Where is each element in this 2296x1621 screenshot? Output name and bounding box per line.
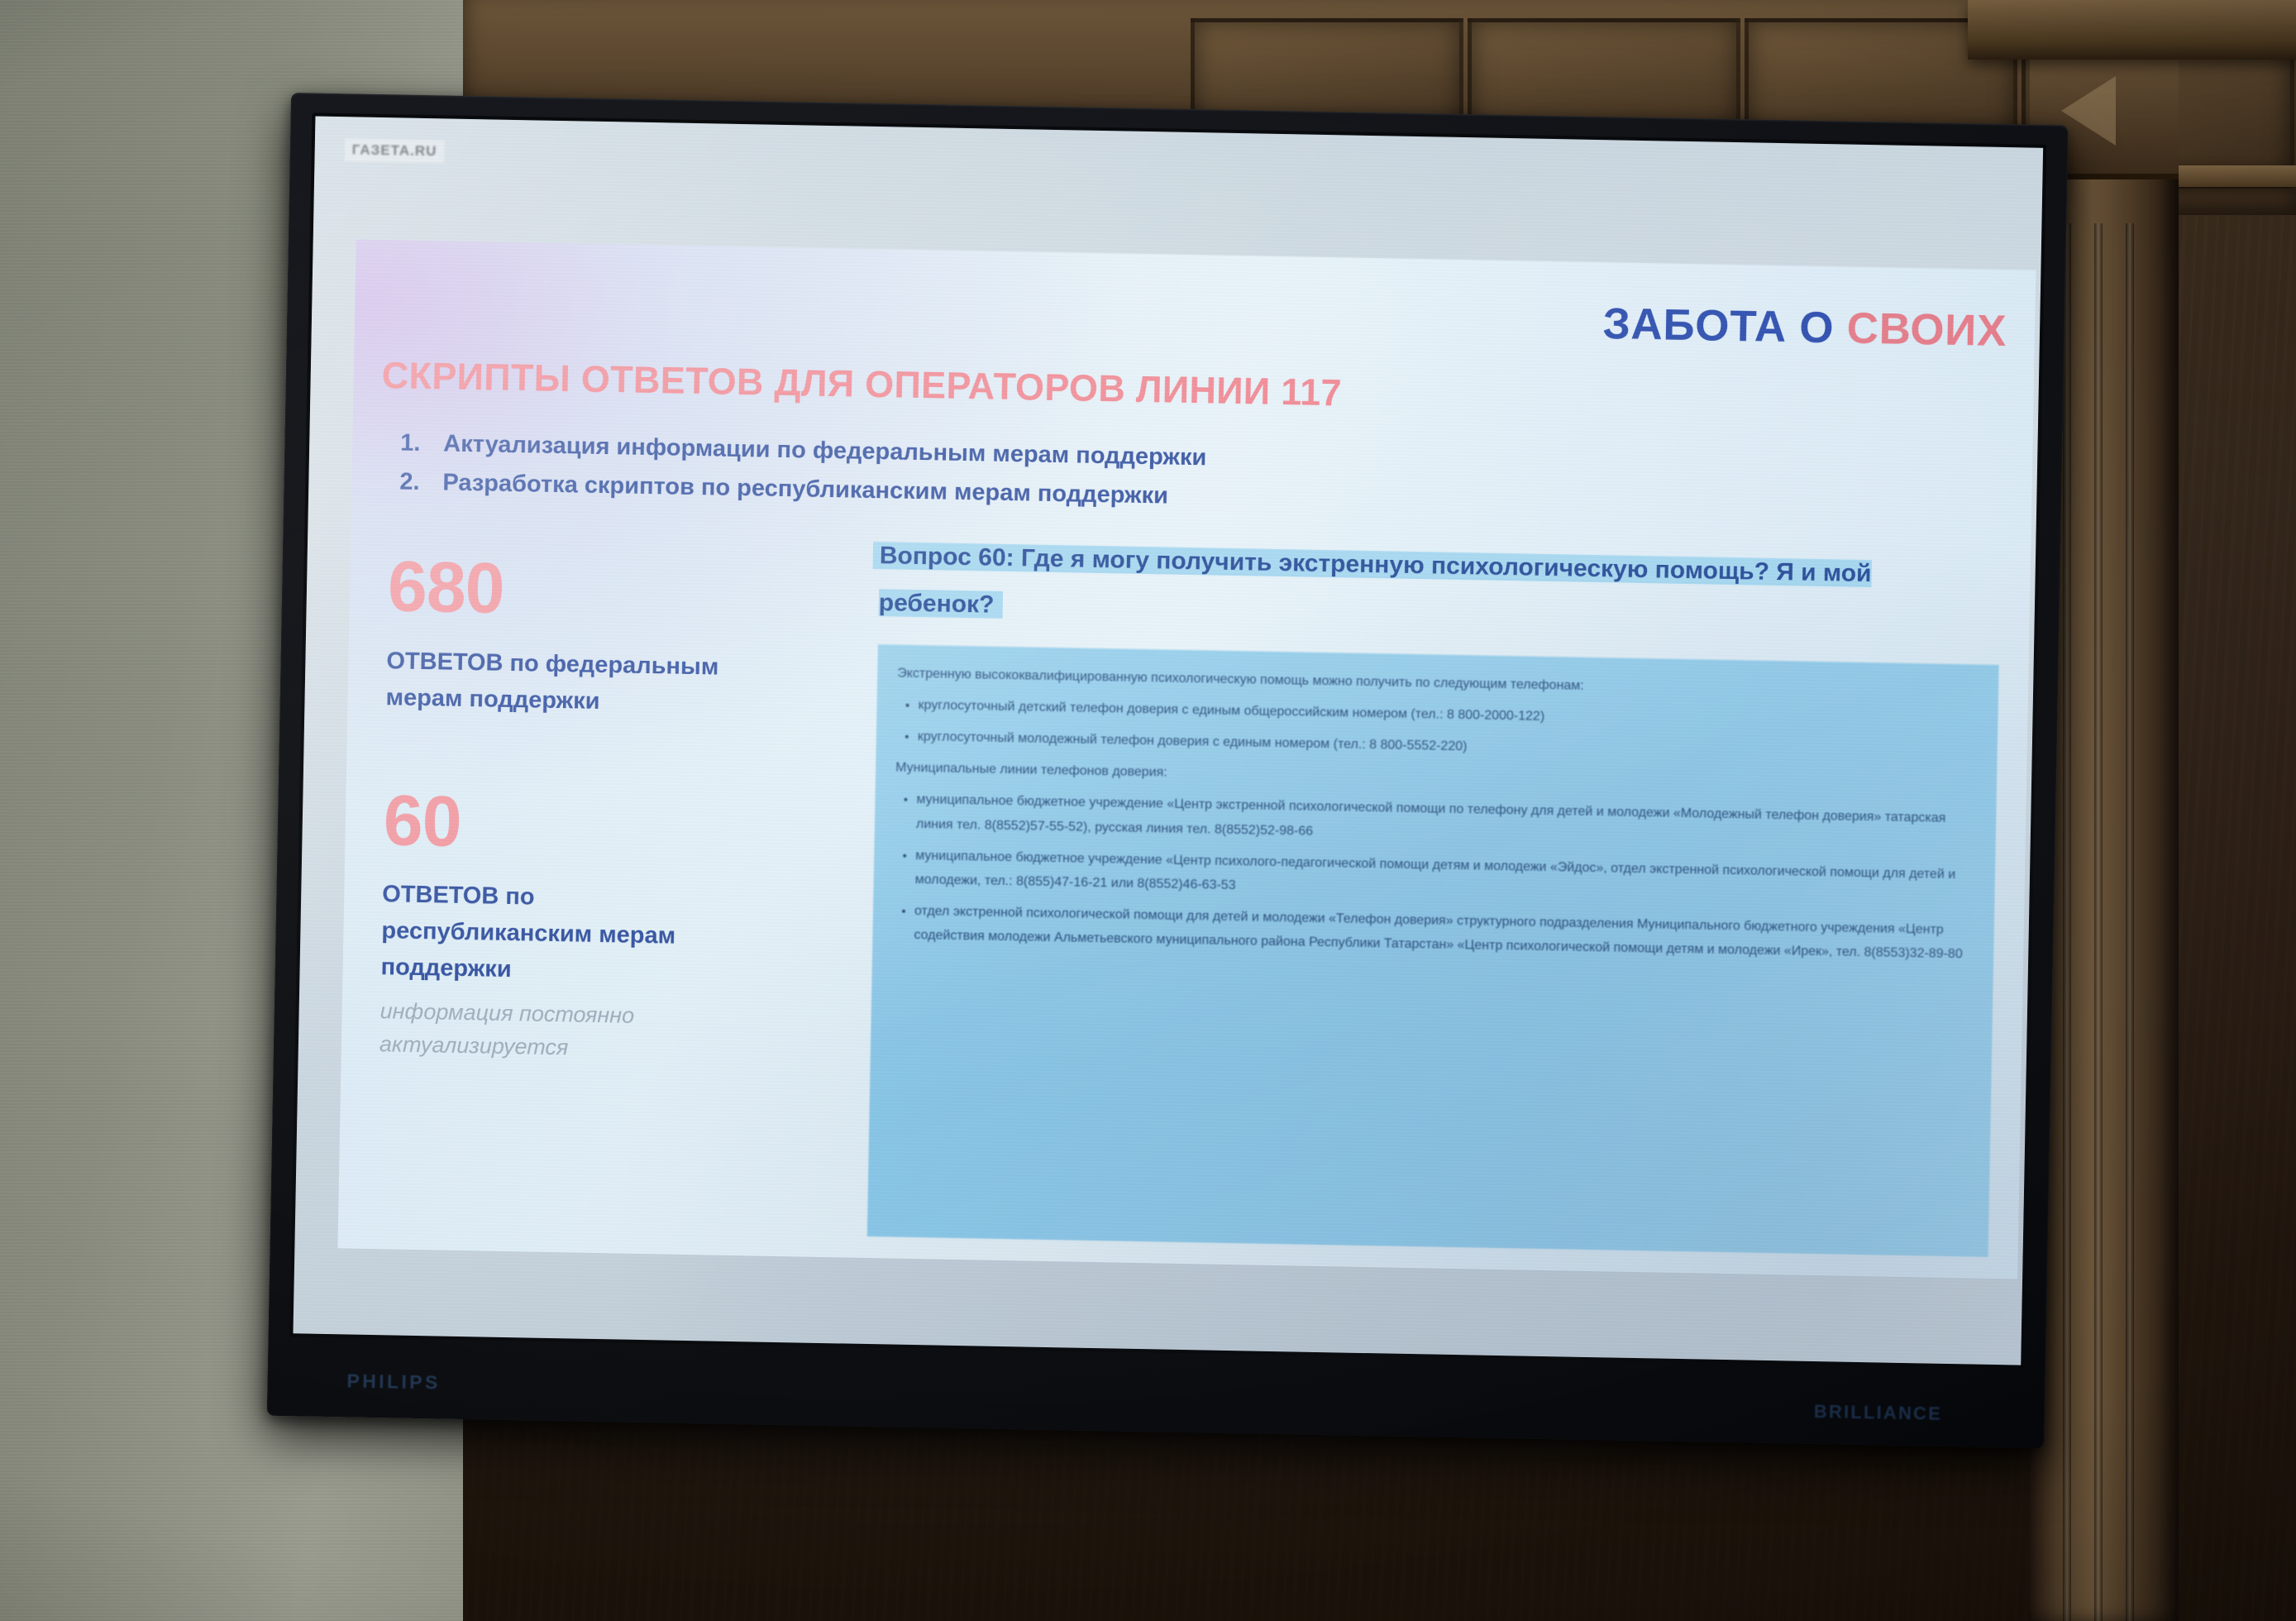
answer-bullet: муниципальное бюджетное учреждение «Цент… bbox=[916, 787, 1975, 855]
stat-block-federal: 680 ОТВЕТОВ по федеральным мерам поддерж… bbox=[385, 552, 752, 722]
pilaster-flute bbox=[2063, 223, 2071, 1621]
kicker-pink-text: СВОИХ bbox=[1846, 304, 2007, 356]
answer-bullet: отдел экстренной психологической помощи … bbox=[914, 899, 1973, 967]
monitor-series-logo: BRILLIANCE bbox=[1814, 1401, 1943, 1425]
slide-numbered-list: 1. Актуализация информации по федеральны… bbox=[399, 423, 1492, 521]
question-highlight-box: Вопрос 60: Где я могу получить экстренну… bbox=[878, 532, 1988, 647]
answer-federal-list: круглосуточный детский телефон доверия с… bbox=[896, 693, 1977, 768]
answer-bullet: муниципальное бюджетное учреждение «Цент… bbox=[914, 844, 1974, 911]
screen-watermark: ГАЗЕТА.RU bbox=[344, 138, 444, 163]
question-text: Вопрос 60: Где я могу получить экстренну… bbox=[879, 542, 1872, 619]
stat-caption-lead: ОТВЕТОВ bbox=[382, 881, 499, 910]
stat-number: 60 bbox=[383, 787, 747, 862]
stat-block-republican: 60 ОТВЕТОВ по республиканским мерам подд… bbox=[379, 787, 748, 1067]
stat-caption-lead: ОТВЕТОВ bbox=[386, 648, 504, 677]
monitor-screen: ГАЗЕТА.RU ЗАБОТА О СВОИХ СКРИПТЫ ОТВЕТОВ… bbox=[294, 117, 2044, 1365]
slide-kicker: ЗАБОТА О СВОИХ bbox=[1602, 299, 2007, 356]
pilaster-flute bbox=[2126, 223, 2134, 1621]
presentation-slide: ЗАБОТА О СВОИХ СКРИПТЫ ОТВЕТОВ ДЛЯ ОПЕРА… bbox=[337, 239, 2036, 1279]
stat-caption: ОТВЕТОВ по республиканским мерам поддерж… bbox=[380, 876, 746, 992]
monitor-brand-logo: PHILIPS bbox=[346, 1370, 441, 1394]
answer-municipal-list: муниципальное бюджетное учреждение «Цент… bbox=[892, 787, 1974, 967]
cornice-molding bbox=[1968, 0, 2296, 60]
stat-note: информация постоянно актуализируется bbox=[379, 996, 744, 1067]
stat-caption: ОТВЕТОВ по федеральным мерам поддержки bbox=[385, 643, 751, 722]
triangle-ornament-icon bbox=[2061, 76, 2116, 146]
stat-number: 680 bbox=[387, 552, 752, 628]
slide-title: СКРИПТЫ ОТВЕТОВ ДЛЯ ОПЕРАТОРОВ ЛИНИИ 117 bbox=[381, 354, 1342, 414]
list-item-number: 2. bbox=[399, 462, 425, 502]
statistics-column: 680 ОТВЕТОВ по федеральным мерам поддерж… bbox=[379, 552, 752, 1067]
answer-panel: Экстренную высококвалифицированную психо… bbox=[867, 644, 1999, 1257]
wall-mounted-monitor: ГАЗЕТА.RU ЗАБОТА О СВОИХ СКРИПТЫ ОТВЕТОВ… bbox=[267, 93, 2069, 1448]
kicker-blue-text: ЗАБОТА О bbox=[1602, 299, 1847, 352]
pilaster-flute bbox=[2094, 223, 2103, 1621]
room-scene: ГАЗЕТА.RU ЗАБОТА О СВОИХ СКРИПТЫ ОТВЕТОВ… bbox=[0, 0, 2296, 1621]
list-item-number: 1. bbox=[400, 423, 426, 463]
